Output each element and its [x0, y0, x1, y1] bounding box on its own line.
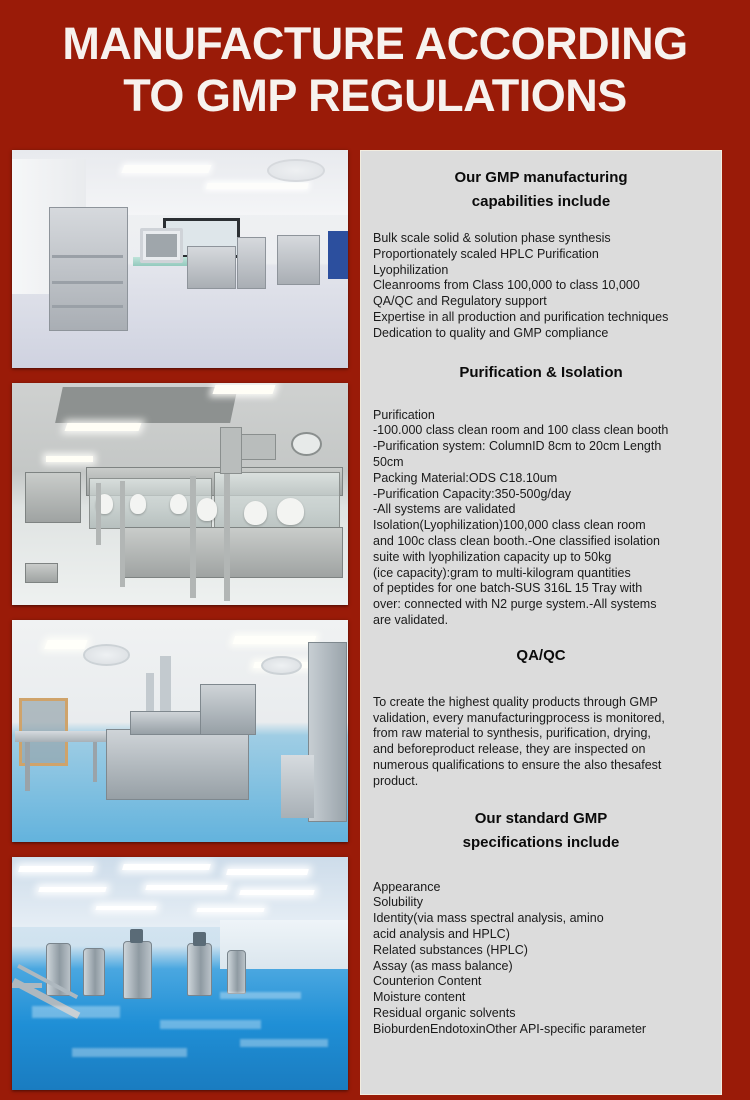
glove-port-icon: [130, 494, 147, 514]
floor-reflection: [220, 992, 301, 999]
ceiling-light-icon: [46, 456, 93, 461]
steel-cabinet: [237, 237, 266, 289]
packaging-machine: [106, 729, 249, 800]
qa-qc-description: To create the highest quality products t…: [373, 695, 709, 790]
ceiling-light-icon: [240, 890, 315, 895]
photo-column: [12, 150, 348, 1090]
spacer: [373, 388, 709, 408]
ceiling-light-icon: [146, 885, 228, 890]
ceiling-light-icon: [233, 636, 316, 644]
ceiling-light-icon: [121, 165, 211, 173]
title-line-1: MANUFACTURE ACCORDING: [62, 18, 687, 70]
ceiling-light-icon: [44, 640, 88, 649]
ceiling-light-icon: [122, 864, 211, 870]
photo-manufacturing-hall: [12, 857, 348, 1090]
ceiling-fan-icon: [261, 656, 302, 676]
ceiling-light-icon: [18, 866, 94, 872]
glove-port-icon: [197, 498, 217, 520]
reactor-vessel: [83, 948, 105, 997]
platform: [12, 983, 42, 989]
monitor-screen: [140, 228, 183, 262]
purification-isolation-list: Purification -100.000 class clean room a…: [373, 408, 709, 629]
reactor-motor: [193, 932, 205, 946]
table-leg: [25, 742, 30, 791]
ceiling-light-icon: [206, 183, 308, 189]
rack-shelf: [52, 255, 123, 258]
dark-ceiling-panel: [55, 387, 237, 423]
floor-unit: [25, 563, 57, 583]
ceiling-light-icon: [38, 887, 107, 892]
support-leg: [96, 483, 101, 545]
reactor-vessel: [227, 950, 246, 994]
floor-reflection: [160, 1020, 261, 1029]
floor-reflection: [32, 1006, 119, 1018]
section-heading-gmp-capabilities-line2: capabilities include: [373, 193, 709, 211]
spacer: [373, 790, 709, 810]
control-panel: [220, 427, 242, 473]
info-panel: Our GMP manufacturing capabilities inclu…: [360, 150, 722, 1095]
ceiling-light-icon: [64, 423, 141, 431]
steel-machine: [277, 235, 319, 285]
glove-port-icon: [277, 498, 304, 525]
support-leg: [120, 481, 125, 588]
cleanroom-scene-3: [12, 620, 348, 842]
support-leg: [224, 472, 230, 601]
equipment-rack: [49, 207, 128, 331]
reactor-motor: [130, 929, 143, 943]
cleanroom-scene-1: [12, 150, 348, 368]
ceiling-light-icon: [95, 906, 157, 910]
gmp-capabilities-list: Bulk scale solid & solution phase synthe…: [373, 231, 709, 342]
isolator-base: [123, 527, 343, 578]
side-counter: [281, 755, 315, 817]
section-heading-gmp-specifications-line1: Our standard GMP: [373, 810, 709, 828]
photo-cleanroom-equipment: [12, 150, 348, 368]
cleanroom-scene-4: [12, 857, 348, 1090]
ceiling-light-icon: [196, 908, 264, 912]
machine-module: [200, 684, 256, 735]
steel-trolley: [187, 246, 236, 289]
title-line-2: TO GMP REGULATIONS: [123, 70, 627, 122]
rack-shelf: [52, 281, 123, 284]
ceiling-light-icon: [212, 385, 275, 394]
pressure-gauge-icon: [291, 432, 322, 456]
spacer: [373, 671, 709, 695]
ceiling-fan-icon: [83, 644, 131, 666]
stainless-table: [15, 731, 106, 742]
ceiling-light-icon: [226, 869, 308, 875]
spacer: [373, 342, 709, 364]
section-heading-qa-qc: QA/QC: [373, 647, 709, 665]
spacer: [373, 856, 709, 880]
floor-reflection: [240, 1039, 327, 1047]
reactor-vessel: [123, 941, 152, 999]
spacer: [373, 215, 709, 231]
table-leg: [93, 742, 98, 782]
glove-port-icon: [170, 494, 187, 514]
section-heading-purification-isolation: Purification & Isolation: [373, 364, 709, 382]
control-panel: [240, 434, 276, 460]
background-equipment: [25, 472, 81, 523]
section-heading-gmp-capabilities-line1: Our GMP manufacturing: [373, 169, 709, 187]
cleanroom-scene-2: [12, 383, 348, 605]
support-leg: [190, 476, 196, 598]
gmp-specifications-list: Appearance Solubility Identity(via mass …: [373, 880, 709, 1038]
photo-production-line: [12, 620, 348, 842]
title-banner: MANUFACTURE ACCORDING TO GMP REGULATIONS: [0, 0, 750, 140]
reactor-vessel: [187, 943, 213, 996]
glove-port-icon: [244, 501, 268, 525]
blue-door: [328, 231, 348, 279]
spacer: [373, 629, 709, 647]
rack-shelf: [52, 305, 123, 308]
floor-reflection: [72, 1048, 186, 1057]
main-content: Our GMP manufacturing capabilities inclu…: [0, 140, 750, 1100]
photo-isolator-line: [12, 383, 348, 605]
section-heading-gmp-specifications-line2: specifications include: [373, 834, 709, 852]
